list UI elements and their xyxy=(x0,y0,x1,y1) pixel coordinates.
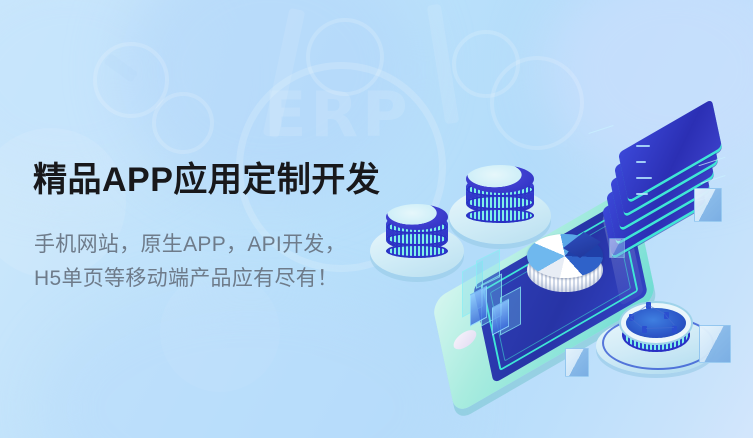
phone-screen-frame-inner xyxy=(490,220,631,362)
watermark-ring-left2-icon xyxy=(152,92,214,154)
ring-platform-core xyxy=(626,308,686,338)
watermark-ring-left-icon xyxy=(93,42,169,118)
bar-1 xyxy=(462,260,483,317)
server-callout-right-2 xyxy=(700,175,725,184)
server-callout-left-1 xyxy=(588,125,613,134)
network-node-4 xyxy=(642,326,647,333)
cube-face-2 xyxy=(700,326,730,362)
phone-screen-frame-outer xyxy=(483,210,639,371)
ring-platform-band xyxy=(622,318,690,352)
floating-cube-4 xyxy=(609,238,625,258)
phone-home-button xyxy=(452,326,478,353)
network-node-2 xyxy=(646,302,651,309)
ring-platform-orbit xyxy=(602,316,714,370)
pie-top-face xyxy=(527,234,603,278)
network-node-1 xyxy=(629,314,634,321)
watermark-bar-a xyxy=(263,8,306,138)
phone-screen-glint xyxy=(602,203,644,306)
server-layer-1 xyxy=(618,99,722,201)
watermark-bar-b xyxy=(427,4,460,125)
server-indicator-2 xyxy=(636,161,646,163)
ring-platform-base xyxy=(596,318,716,374)
background-watermark-group: ERP xyxy=(0,0,753,438)
bar-3 xyxy=(500,286,521,335)
db-small-base xyxy=(370,225,464,277)
bar-2 xyxy=(481,273,502,326)
server-callout-right-1 xyxy=(699,157,726,167)
server-stack xyxy=(596,117,726,233)
watermark-ring-right-icon xyxy=(452,30,520,98)
db-large-top xyxy=(466,165,534,193)
ring-platform xyxy=(596,300,716,374)
bar-solid-1 xyxy=(470,285,487,326)
network-link-3 xyxy=(630,318,642,327)
db-large-base xyxy=(449,188,551,244)
server-indicator-1 xyxy=(636,145,650,147)
pie-exploded-slice xyxy=(563,232,601,258)
illustration-isometric xyxy=(0,0,753,438)
server-indicator-4 xyxy=(636,193,648,195)
server-layer-4 xyxy=(606,141,710,243)
db-small-band-2 xyxy=(386,232,448,246)
network-link-1 xyxy=(631,305,647,317)
db-small-band-1 xyxy=(386,220,448,234)
floating-glass-cube xyxy=(476,249,500,289)
pie-chart-3d xyxy=(523,232,607,296)
network-link-4 xyxy=(665,315,674,325)
server-indicator-3 xyxy=(636,177,652,179)
db-small-body xyxy=(386,214,448,250)
watermark-shadow-bar xyxy=(104,53,139,83)
watermark-ring-top-icon xyxy=(306,18,384,96)
server-callout-right-3 xyxy=(696,193,719,201)
db-large-band-1 xyxy=(466,182,534,197)
phone-screen xyxy=(473,197,648,383)
bg-blob-right xyxy=(543,0,753,180)
db-large-band-3 xyxy=(466,208,534,223)
network-node-3 xyxy=(664,312,669,319)
server-layer-2 xyxy=(614,113,718,215)
bg-blob-bottom xyxy=(40,288,460,438)
db-small-band-3 xyxy=(386,244,448,258)
watermark-ring-right2-icon xyxy=(490,56,584,150)
floating-cube-2 xyxy=(699,325,731,363)
smartphone-dashboard xyxy=(432,185,657,414)
cube-face-3 xyxy=(566,349,588,376)
bar-solid-2 xyxy=(492,298,509,335)
network-link-2 xyxy=(649,305,666,315)
db-large-band-2 xyxy=(466,195,534,210)
cube-face-4 xyxy=(610,239,624,257)
cube-face-1 xyxy=(695,189,721,221)
promo-banner: ERP xyxy=(0,0,753,438)
pie-cylinder-side xyxy=(527,248,603,292)
page-subtitle: 手机网站，原生APP，API开发，H5单页等移动端产品应有尽有！ xyxy=(34,228,350,296)
server-layer-5 xyxy=(602,155,706,257)
network-node-5 xyxy=(672,326,677,333)
server-layer-3 xyxy=(610,127,714,229)
db-small-top xyxy=(386,204,448,230)
floating-cube-1 xyxy=(694,188,722,222)
page-title: 精品APP应用定制开发 xyxy=(33,160,380,200)
background-wash xyxy=(0,0,753,438)
db-large-body xyxy=(466,176,534,214)
network-link-5 xyxy=(646,327,674,329)
watermark-erp-text: ERP xyxy=(264,78,412,151)
floating-cube-3 xyxy=(565,348,589,377)
